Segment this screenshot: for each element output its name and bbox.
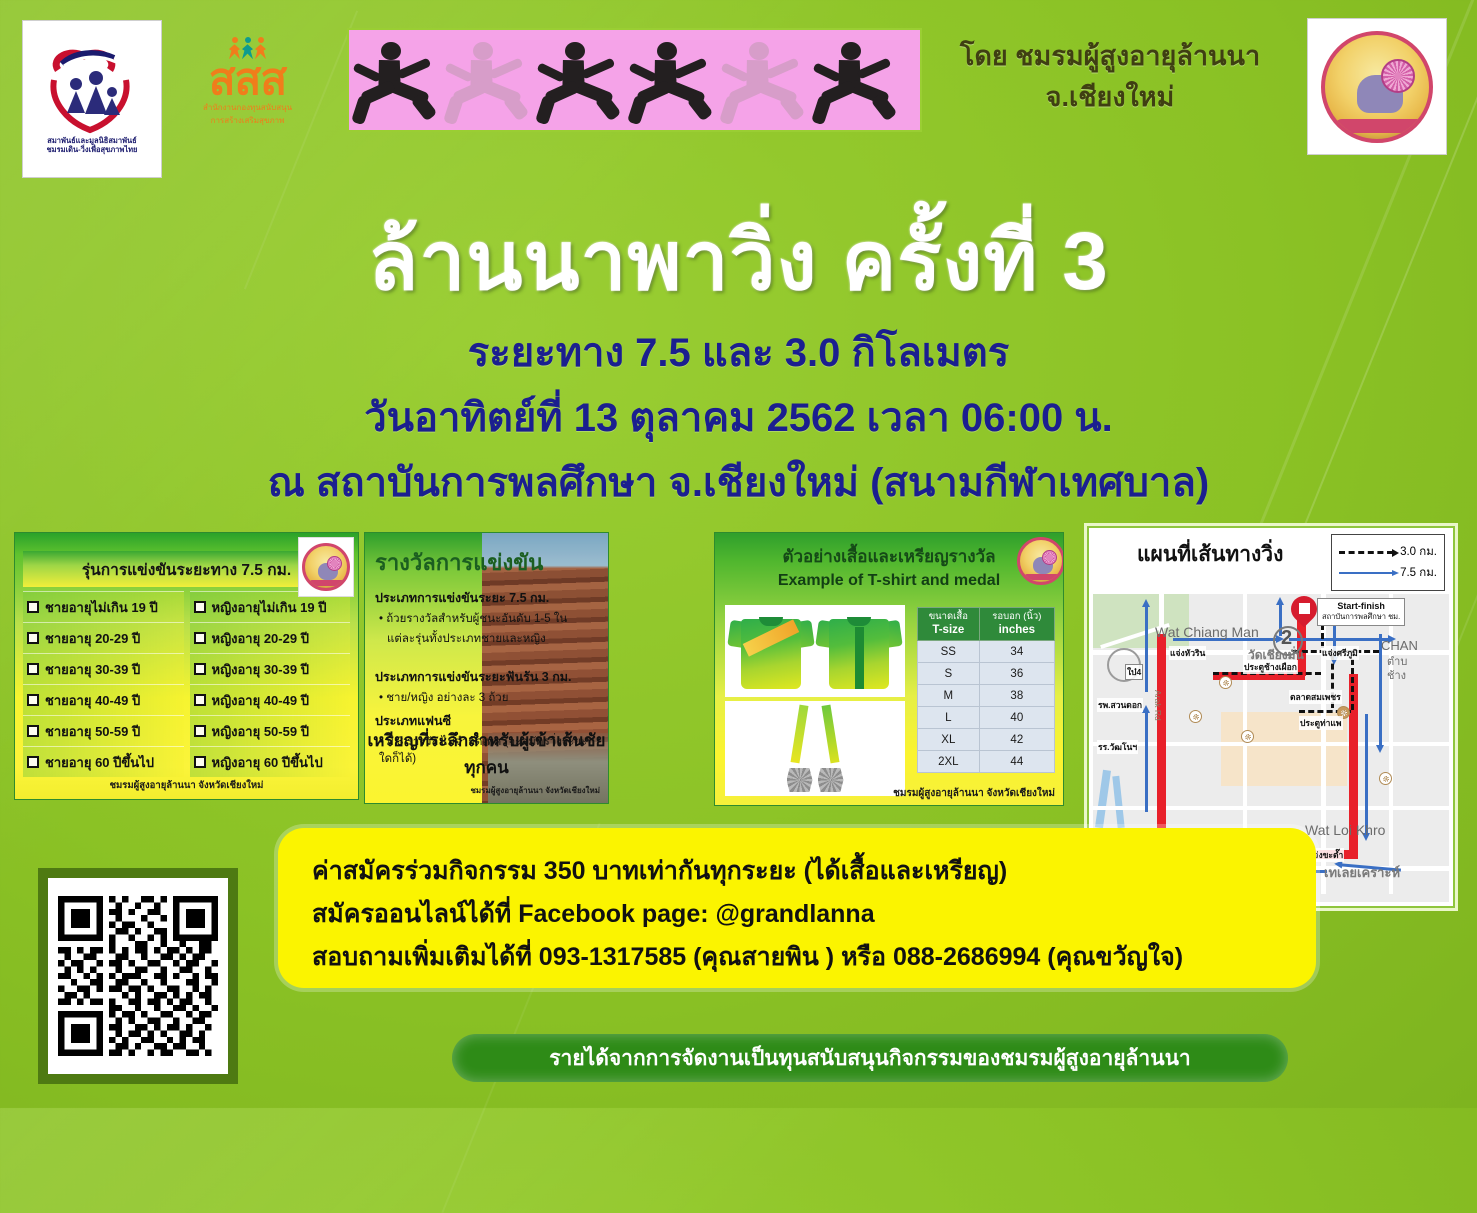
runner-icon [441,34,533,130]
distance-subtitle: ระยะทาง 7.5 และ 3.0 กิโลเมตร [0,320,1477,384]
thaihealth-people-icon [229,33,266,59]
size-value: XL [918,729,980,751]
map-label: แจ่งหัวริน [1169,646,1206,660]
runner-icon [349,34,441,130]
table-row: M38 [918,685,1055,707]
checkbox-icon[interactable] [194,725,206,737]
prize-section1-bullet-line1: • ถ้วยรางวัลสำหรับผู้ชนะอันดับ 1-5 ใน [379,611,598,628]
map-water [1095,770,1111,829]
map-label: ประตูท่าแพ [1299,716,1343,730]
start-finish-line1: Start-finish [1322,601,1400,611]
checkbox-icon[interactable] [27,632,39,644]
map-poi-icon [1241,730,1254,743]
table-row: S36 [918,663,1055,685]
organizer-credit-line2: จ.เชียงใหม่ [930,77,1290,118]
map-label: เทเลยเคราะห์ [1323,862,1401,883]
age-category-female[interactable]: หญิงอายุ 40-49 ปี [190,684,351,715]
prize-medal-banner: เหรียญที่ระลึกสำหรับผู้เข้าเส้นชัยทุกคน [365,727,608,781]
runner-icon [625,34,717,130]
chest-value: 36 [979,663,1054,685]
prize-section2-bullet: • ชาย/หญิง อย่างละ 3 ถ้วย [379,690,598,707]
tshirt-front-icon [729,609,813,693]
map-poi-icon [1219,676,1232,689]
tshirt-photo-card [725,605,905,697]
size-column-header: ขนาดเสื้อ T-size [918,608,980,641]
map-label-road: Arak Rd [1153,690,1163,721]
map-title: แผนที่เส้นทางวิ่ง [1137,538,1283,571]
route-blue-arrow [1145,712,1148,812]
federation-logo: สมาพันธ์และมูลนิธิสมาพันธ์ ชมรมเดิน-วิ่ง… [22,20,162,178]
route-blue-arrow [1289,638,1389,641]
age-category-label: หญิงอายุ 60 ปีขึ้นไป [212,752,323,773]
medal-icon [787,768,813,792]
map-water [1112,776,1124,828]
tshirt-back-icon [817,609,901,693]
legend-item-3km: 3.0 กม. [1339,543,1437,561]
medal-icon [818,768,844,792]
solid-arrow-icon [1339,572,1393,574]
shirt-images [725,605,905,796]
tshirt-size-table: ขนาดเสื้อ T-size รอบอก (นิ้ว) inches SS3… [917,607,1055,773]
map-label: รพ.สวนดอก [1097,698,1143,712]
date-subtitle: วันอาทิตย์ที่ 13 ตุลาคม 2562 เวลา 06:00 … [0,385,1477,449]
map-poi-icon [1379,772,1392,785]
age-category-male[interactable]: ชายอายุ 20-29 ปี [23,622,184,653]
route-blue-arrow [1145,606,1148,692]
table-row: SS34 [918,641,1055,663]
chest-column-header-th: รอบอก (นิ้ว) [982,611,1052,623]
size-value: SS [918,641,980,663]
checkbox-icon[interactable] [27,756,39,768]
thaihealth-logo: สสส สำนักงานกองทุนสนับสนุน การสร้างเสริม… [175,25,320,135]
size-column-header-en: T-size [932,624,964,636]
age-category-label: ชายอายุ 50-59 ปี [45,721,140,742]
map-label: แจ่งศรีภูมิ [1321,646,1359,660]
shirt-panel-title-th: ตัวอย่างเสื้อและเหรียญรางวัล [741,543,1037,570]
chest-column-header: รอบอก (นิ้ว) inches [979,608,1054,641]
prize-section1-bullet-line2: แต่ละรุ่นทั้งประเภทชายและหญิง [387,631,598,648]
age-category-male[interactable]: ชายอายุ 60 ปีขึ้นไป [23,746,184,777]
tshirt-medal-panel: ตัวอย่างเสื้อและเหรียญรางวัล Example of … [714,532,1064,806]
map-label: รร.วัฒโนฯ [1097,740,1138,754]
heart-family-icon [44,44,140,136]
route-red-segment [1157,634,1166,858]
age-category-label: หญิงอายุ 20-29 ปี [212,628,309,649]
start-finish-line2: สถาบันการพลศึกษา ชม. [1322,611,1400,623]
route-blue-arrow [1365,714,1368,834]
map-poi-icon [1189,710,1202,723]
medal-photo-card [725,701,905,796]
chest-value: 42 [979,729,1054,751]
chest-value: 44 [979,751,1054,773]
map-label: ประตูช้างเผือก [1243,660,1298,674]
runner-icon [809,34,901,130]
shirt-panel-title-en: Example of T-shirt and medal [741,572,1037,590]
organizer-credit-line1: โดย ชมรมผู้สูงอายุล้านนา [930,36,1290,77]
shirt-panel-footer: ชมรมผู้สูงอายุล้านนา จังหวัดเชียงใหม่ [893,786,1055,801]
table-row: L40 [918,707,1055,729]
registration-fee-line: ค่าสมัครร่วมกิจกรรม 350 บาทเท่ากันทุกระย… [312,850,1282,893]
legend-label-75km: 7.5 กม. [1400,564,1437,582]
age-category-label: ชายอายุไม่เกิน 19 ปี [45,597,158,618]
page-title: ล้านนาพาวิ่ง ครั้งที่ 3 [0,196,1477,326]
age-category-male[interactable]: ชายอายุไม่เกิน 19 ปี [23,591,184,622]
map-label-en: Wat Chiang Man [1155,624,1259,640]
age-category-male[interactable]: ชายอายุ 30-39 ปี [23,653,184,684]
lanyard-icon [793,705,837,767]
size-value: 2XL [918,751,980,773]
size-value: L [918,707,980,729]
qr-code[interactable] [38,868,238,1084]
thaihealth-wordmark: สสส [209,59,287,101]
age-panel-footer: ชมรมผู้สูงอายุล้านนา จังหวัดเชียงใหม่ [15,778,358,793]
checkbox-icon[interactable] [27,601,39,613]
map-label: ใบ๋4 [1125,664,1143,680]
age-category-female[interactable]: หญิงอายุ 30-39 ปี [190,653,351,684]
table-row: XL42 [918,729,1055,751]
federation-logo-caption-line2: ชมรมเดิน-วิ่งเพื่อสุขภาพไทย [47,145,138,154]
legend-label-3km: 3.0 กม. [1400,543,1437,561]
registration-online-line[interactable]: สมัครออนไลน์ได้ที่ Facebook page: @grand… [312,893,1282,936]
chest-value: 40 [979,707,1054,729]
prize-section2-heading: ประเภทการแข่งขันระยะฟันรัน 3 กม. [375,667,598,687]
age-category-label: หญิงอายุไม่เกิน 19 ปี [212,597,327,618]
age-category-label: หญิงอายุ 40-49 ปี [212,690,309,711]
size-value: S [918,663,980,685]
prize-panel-footer: ชมรมผู้สูงอายุล้านนา จังหวัดเชียงใหม่ [470,784,600,797]
checkbox-icon[interactable] [27,663,39,675]
qr-code-icon [58,888,218,1064]
organizer-credit: โดย ชมรมผู้สูงอายุล้านนา จ.เชียงใหม่ [930,36,1290,117]
age-category-female[interactable]: หญิงอายุ 20-29 ปี [190,622,351,653]
checkbox-icon[interactable] [27,694,39,706]
checkbox-icon[interactable] [194,694,206,706]
age-category-label: ชายอายุ 20-29 ปี [45,628,140,649]
checkbox-icon[interactable] [194,756,206,768]
map-legend: 3.0 กม. 7.5 กม. [1331,534,1445,591]
chest-value: 38 [979,685,1054,707]
start-finish-label: Start-finish สถาบันการพลศึกษา ชม. [1317,598,1405,626]
footer-text: รายได้จากการจัดงานเป็นทุนสนับสนุนกิจกรรม… [549,1042,1190,1075]
map-label-en: ช้าง [1387,666,1406,684]
federation-logo-caption-line1: สมาพันธ์และมูลนิธิสมาพันธ์ [47,136,136,145]
age-category-label: ชายอายุ 30-39 ปี [45,659,140,680]
footer-banner: รายได้จากการจัดงานเป็นทุนสนับสนุนกิจกรรม… [452,1034,1288,1082]
checkbox-icon[interactable] [194,632,206,644]
lanna-club-seal-logo [1307,18,1447,155]
prize-section1-heading: ประเภทการแข่งขันระยะ 7.5 กม. [375,588,598,608]
size-value: M [918,685,980,707]
thaihealth-sub-line1: สำนักงานกองทุนสนับสนุน [203,103,292,114]
size-column-header-th: ขนาดเสื้อ [920,611,977,623]
age-category-label: ชายอายุ 40-49 ปี [45,690,140,711]
legend-item-75km: 7.5 กม. [1339,564,1437,582]
prize-panel-title: รางวัลการแข่งขัน [375,545,608,580]
registration-contact-line: สอบถามเพิ่มเติมได้ที่ 093-1317585 (คุณสา… [312,936,1282,979]
age-category-label: ชายอายุ 60 ปีขึ้นไป [45,752,154,773]
map-label-en: Wat Loi Khro [1305,822,1385,838]
runner-icon [533,34,625,130]
lanna-seal-icon [1321,31,1433,143]
map-label-en: CHAN [1381,638,1418,653]
age-categories-grid: ชายอายุไม่เกิน 19 ปี หญิงอายุไม่เกิน 19 … [23,591,350,777]
age-category-female[interactable]: หญิงอายุ 60 ปีขึ้นไป [190,746,351,777]
venue-subtitle: ณ สถาบันการพลศึกษา จ.เชียงใหม่ (สนามกีฬา… [0,450,1477,514]
checkbox-icon[interactable] [194,663,206,675]
runner-icon [717,34,809,130]
lanna-seal-icon [1017,537,1059,585]
lanna-seal-icon [298,537,354,597]
thaihealth-sub-line2: การสร้างเสริมสุขภาพ [211,116,285,127]
dashed-arrow-icon [1339,551,1393,554]
age-category-female[interactable]: หญิงอายุ 50-59 ปี [190,715,351,746]
age-category-male[interactable]: ชายอายุ 50-59 ปี [23,715,184,746]
prizes-panel: รางวัลการแข่งขัน ประเภทการแข่งขันระยะ 7.… [364,532,609,804]
map-label: ตลาดสมเพชร [1289,690,1342,704]
start-finish-pin-icon [1291,596,1317,630]
checkbox-icon[interactable] [27,725,39,737]
age-category-label: หญิงอายุ 50-59 ปี [212,721,309,742]
age-categories-panel: รุ่นการแข่งขันระยะทาง 7.5 กม. ชายอายุไม่… [14,532,359,800]
table-row: 2XL44 [918,751,1055,773]
chest-column-header-en: inches [999,624,1035,636]
checkbox-icon[interactable] [194,601,206,613]
registration-info-panel: ค่าสมัครร่วมกิจกรรม 350 บาทเท่ากันทุกระย… [278,828,1316,988]
age-category-male[interactable]: ชายอายุ 40-49 ปี [23,684,184,715]
chest-value: 34 [979,641,1054,663]
runner-silhouette-banner [347,28,922,132]
age-category-label: หญิงอายุ 30-39 ปี [212,659,309,680]
